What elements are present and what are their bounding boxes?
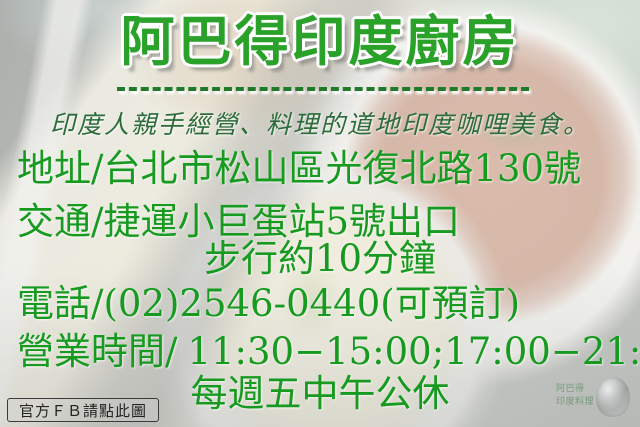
business-hours-value: 11:30−15:00;17:00−21:30 <box>187 330 640 373</box>
business-hours-label: 營業時間/ <box>17 330 177 373</box>
watermark-emblem-icon <box>596 377 630 417</box>
restaurant-name-title: 阿巴得印度廚房 <box>0 14 640 71</box>
logo-watermark: 阿巴得 印度料理 <box>556 375 632 421</box>
transit-line: 交通/捷運小巨蛋站5號出口 <box>17 203 460 240</box>
address-line: 地址/台北市松山區光復北路130號 <box>17 150 581 187</box>
walking-time-line: 步行約10分鐘 <box>0 240 640 277</box>
watermark-line-1: 阿巴得 <box>556 383 594 396</box>
watermark-line-2: 印度料理 <box>556 396 594 409</box>
phone-line: 電話/(02)2546-0440(可預訂) <box>17 285 520 322</box>
poster-content: 阿巴得印度廚房 印度人親手經營、料理的道地印度咖哩美食。 地址/台北市松山區光復… <box>0 0 640 427</box>
facebook-link-button[interactable]: 官方ＦＢ請點此圖 <box>7 398 159 422</box>
tagline-text: 印度人親手經營、料理的道地印度咖哩美食。 <box>0 105 640 141</box>
restaurant-info-poster: 阿巴得印度廚房 印度人親手經營、料理的道地印度咖哩美食。 地址/台北市松山區光復… <box>0 0 640 427</box>
watermark-text: 阿巴得 印度料理 <box>556 383 594 409</box>
business-hours-line: 營業時間/11:30−15:00;17:00−21:30 <box>17 333 640 370</box>
dashed-divider <box>117 87 529 91</box>
